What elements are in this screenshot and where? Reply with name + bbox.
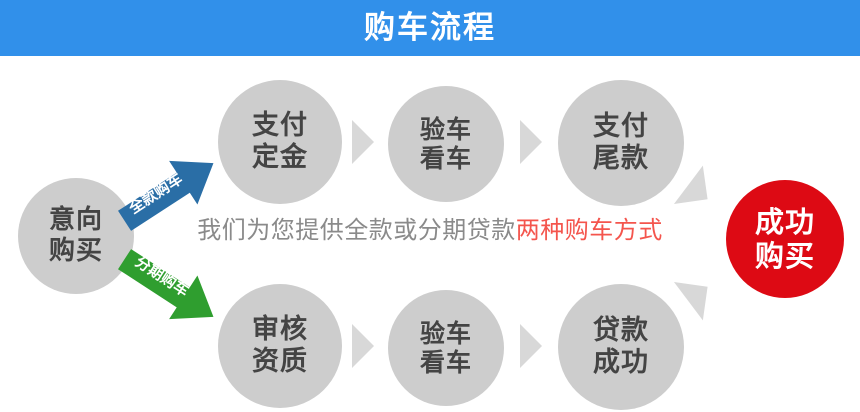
- flow-node-review-qualification[interactable]: 审核 资质: [218, 284, 342, 408]
- chevron-right-icon: [520, 120, 542, 164]
- page-title: 购车流程: [364, 13, 496, 44]
- flow-node-inspect-car-top[interactable]: 验车 看车: [388, 86, 504, 202]
- chevron-right-icon: [352, 324, 374, 368]
- arrow-shape-icon: [110, 237, 227, 338]
- node-label-line2: 定金: [252, 142, 308, 174]
- node-label-line2: 看车: [420, 144, 472, 174]
- node-label-line2: 资质: [252, 346, 308, 378]
- chevron-right-icon: [352, 120, 374, 164]
- node-label-line2: 成功: [593, 347, 649, 379]
- flow-node-pay-balance[interactable]: 支付 尾款: [558, 80, 684, 206]
- chevron-right-icon: [520, 324, 542, 368]
- flow-node-pay-deposit[interactable]: 支付 定金: [218, 80, 342, 204]
- purchase-flow-diagram: 意向 购买 全款购车 分期购车 支付 定金 验车 看车 支付 尾款 审核 资质 …: [0, 56, 860, 412]
- chevron-diagonal-down-icon: [674, 166, 722, 219]
- chevron-diagonal-up-icon: [674, 268, 722, 321]
- page-header: 购车流程: [0, 0, 860, 56]
- node-label-line2: 尾款: [593, 143, 649, 175]
- node-label-line2: 看车: [420, 348, 472, 378]
- flow-node-inspect-car-bottom[interactable]: 验车 看车: [388, 290, 504, 406]
- flow-caption: 我们为您提供全款或分期贷款两种购车方式: [0, 216, 860, 245]
- flow-node-loan-approved[interactable]: 贷款 成功: [558, 284, 684, 410]
- node-label-line1: 支付: [252, 110, 308, 142]
- node-label-line1: 支付: [593, 111, 649, 143]
- node-label-line1: 贷款: [593, 315, 649, 347]
- flow-caption-accent: 两种购车方式: [516, 216, 663, 244]
- node-label-line1: 验车: [420, 115, 472, 145]
- node-label-line1: 验车: [420, 319, 472, 349]
- node-label-line1: 审核: [252, 314, 308, 346]
- flow-caption-plain: 我们为您提供全款或分期贷款: [197, 216, 516, 244]
- installment-arrow[interactable]: 分期购车: [110, 237, 227, 338]
